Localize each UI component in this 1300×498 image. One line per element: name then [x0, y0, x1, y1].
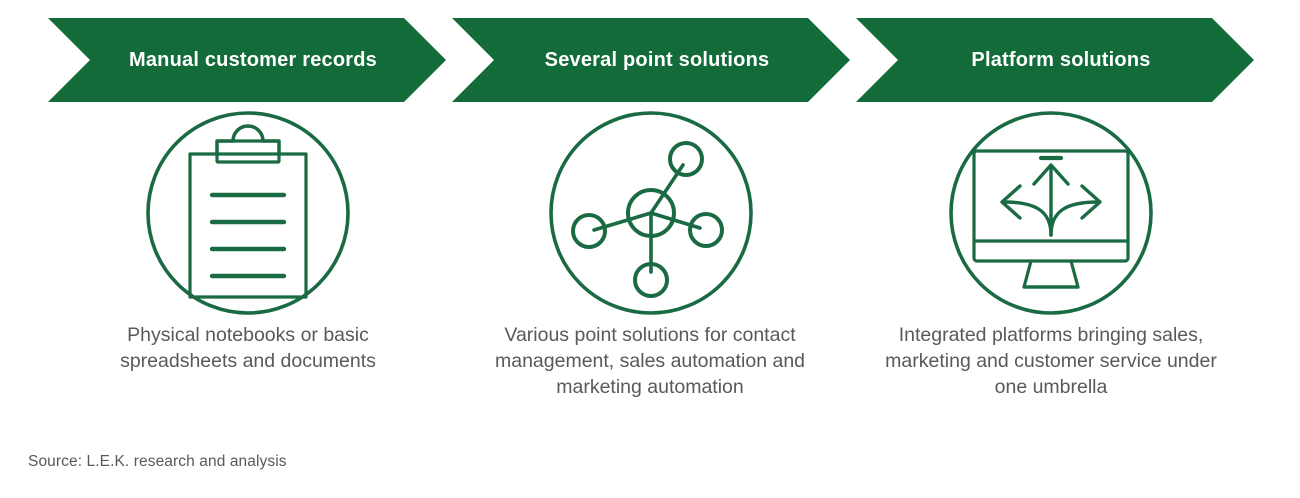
stage-chevron-1-label: Manual customer records — [103, 49, 391, 72]
stage-chevron-2[interactable]: Several point solutions — [452, 18, 850, 102]
stage-chevron-1[interactable]: Manual customer records — [48, 18, 446, 102]
stage-1-icon-container — [145, 110, 351, 316]
stage-chevron-3[interactable]: Platform solutions — [856, 18, 1254, 102]
monitor-branching-arrows-icon — [948, 110, 1154, 316]
clipboard-icon — [145, 110, 351, 316]
stage-2-caption: Various point solutions for contact mana… — [470, 322, 830, 400]
stage-chevron-band: Manual customer records Several point so… — [0, 18, 1300, 102]
stage-3-icon-container — [948, 110, 1154, 316]
infographic-canvas: Manual customer records Several point so… — [0, 0, 1300, 498]
stage-chevron-3-label: Platform solutions — [945, 49, 1164, 72]
stage-chevron-2-label: Several point solutions — [519, 49, 784, 72]
source-note: Source: L.E.K. research and analysis — [28, 452, 287, 472]
stage-2-icon-container — [548, 110, 754, 316]
stage-1-caption: Physical notebooks or basic spreadsheets… — [68, 322, 428, 374]
stage-3-caption: Integrated platforms bringing sales, mar… — [871, 322, 1231, 400]
network-nodes-icon — [548, 110, 754, 316]
